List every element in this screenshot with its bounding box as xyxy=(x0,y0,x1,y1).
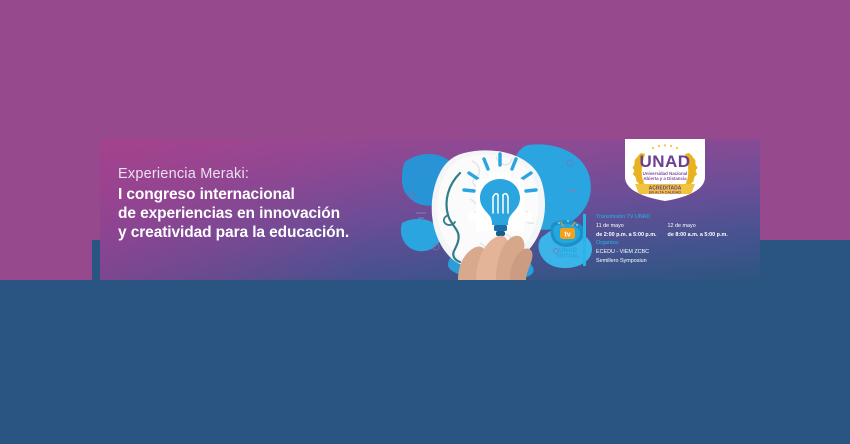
event-info-accent-bar xyxy=(583,214,586,266)
event-time-day-2: de 8:00 a.m. a 5:00 p.m. xyxy=(668,231,728,240)
event-date-day-1: 11 de mayo xyxy=(596,222,657,231)
event-info-block: Transmisión TV UNAD 11 de mayo de 2:00 p… xyxy=(583,213,728,266)
headline-line-3: y creatividad para la educación. xyxy=(118,223,349,242)
page-root: Experiencia Meraki: I congreso internaci… xyxy=(0,0,850,444)
tv-mark-line-2: VIRTUAL xyxy=(556,254,580,260)
page-lower-block-main xyxy=(0,280,850,444)
seal-acronym: UNAD xyxy=(639,152,690,171)
event-date-day-2: 12 de mayo xyxy=(668,222,728,231)
seal-ribbon-line-2: EN ALTA CALIDAD xyxy=(649,191,681,195)
headline-kicker: Experiencia Meraki: xyxy=(118,165,349,183)
organizer-line-2: Semillero Symposiun xyxy=(596,257,657,266)
unad-seal-logo: UNAD Universidad Nacional Abierta y a Di… xyxy=(619,139,711,201)
event-time-day-1: de 2:00 p.m. a 5:00 p.m. xyxy=(596,231,657,240)
tv-badge-label: tv xyxy=(564,232,570,239)
banner-headline: Experiencia Meraki: I congreso internaci… xyxy=(118,165,349,242)
headline-line-1: I congreso internacional xyxy=(118,185,349,204)
organizer-label: Organiza: xyxy=(596,239,657,248)
event-banner[interactable]: Experiencia Meraki: I congreso internaci… xyxy=(100,139,760,280)
organizer-line-1: ECEDU - VIEM ZCBC xyxy=(596,248,657,257)
event-info-column-left: Transmisión TV UNAD 11 de mayo de 2:00 p… xyxy=(596,213,657,266)
broadcast-channel: Transmisión TV UNAD xyxy=(596,213,657,222)
headline-line-2: de experiencias en innovación xyxy=(118,204,349,223)
event-info-column-right: 12 de mayo de 8:00 a.m. a 5:00 p.m. xyxy=(668,213,728,266)
seal-name-line-2: Abierta y a Distancia xyxy=(643,176,687,181)
unad-virtual-tv-logo: tv UNAD VIRTUAL xyxy=(548,217,588,259)
